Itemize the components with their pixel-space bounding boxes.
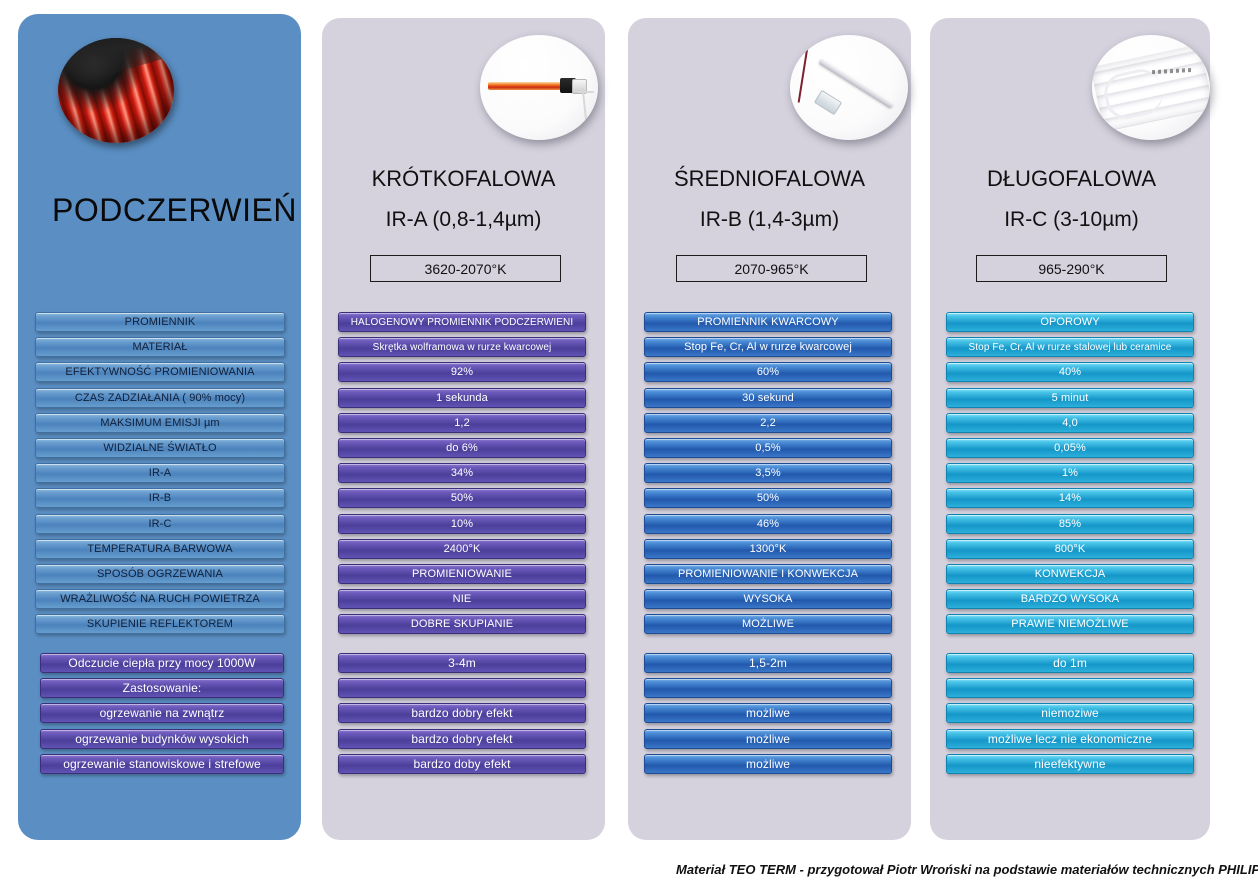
column-range: IR-A (0,8-1,4µm)	[322, 205, 605, 235]
data-cell: 0,05%	[946, 438, 1194, 458]
usage-label: ogrzewanie stanowiskowe i strefowe	[40, 754, 284, 774]
data-cell: PROMIENNIK KWARCOWY	[644, 312, 892, 332]
data-cell: 34%	[338, 463, 586, 483]
column-heading-ir-c: DŁUGOFALOWA IR-C (3-10µm)	[930, 165, 1213, 235]
summary-cell: bardzo doby efekt	[338, 754, 586, 774]
data-cell: DOBRE SKUPIANIE	[338, 614, 586, 634]
data-cell: 85%	[946, 514, 1194, 534]
row-label: IR-B	[35, 488, 285, 508]
summary-cell: nieefektywne	[946, 754, 1194, 774]
rod-tip	[814, 90, 842, 115]
page-title: PODCZERWIEŃ	[52, 192, 292, 229]
data-cell: HALOGENOWY PROMIENNIK PODCZERWIENI	[338, 312, 586, 332]
row-label: WIDZIALNE ŚWIATŁO	[35, 438, 285, 458]
row-label: SPOSÓB OGRZEWANIA	[35, 564, 285, 584]
summary-cell: możliwe	[644, 729, 892, 749]
row-label: PROMIENNIK	[35, 312, 285, 332]
summary-cell: możliwe lecz nie ekonomiczne	[946, 729, 1194, 749]
data-cell: 5 minut	[946, 388, 1194, 408]
row-label: MAKSIMUM EMISJI µm	[35, 413, 285, 433]
data-cell: 50%	[338, 488, 586, 508]
summary-cell: do 1m	[946, 653, 1194, 673]
summary-cell	[644, 678, 892, 698]
row-label: SKUPIENIE REFLEKTOREM	[35, 614, 285, 634]
tube-body	[488, 82, 562, 90]
data-cell: Stop Fe, Cr, Al w rurze stalowej lub cer…	[946, 337, 1194, 357]
data-cell: 40%	[946, 362, 1194, 382]
summary-cell: bardzo dobry efekt	[338, 729, 586, 749]
temperature-badge-ir-c: 965-290°K	[976, 255, 1167, 282]
data-cell: 92%	[338, 362, 586, 382]
summary-cell: bardzo dobry efekt	[338, 703, 586, 723]
data-cell: NIE	[338, 589, 586, 609]
data-cell: 10%	[338, 514, 586, 534]
halogen-tube-icon	[480, 35, 598, 140]
row-label: TEMPERATURA BARWOWA	[35, 539, 285, 559]
data-cell: 2400°K	[338, 539, 586, 559]
data-cell: PROMIENIOWANIE I KONWEKCJA	[644, 564, 892, 584]
footer-credit: Materiał TEO TERM - przygotował Piotr Wr…	[676, 862, 1246, 877]
ceramic-heater-icon	[1092, 35, 1210, 140]
ceramic-body	[1092, 44, 1210, 132]
column-range: IR-B (1,4-3µm)	[628, 205, 911, 235]
temperature-badge-ir-b: 2070-965°K	[676, 255, 867, 282]
row-label: MATERIAŁ	[35, 337, 285, 357]
summary-cell	[946, 678, 1194, 698]
usage-label: Zastosowanie:	[40, 678, 284, 698]
data-cell: 1,2	[338, 413, 586, 433]
column-heading-ir-a: KRÓTKOFALOWA IR-A (0,8-1,4µm)	[322, 165, 605, 235]
data-cell: do 6%	[338, 438, 586, 458]
data-cell: PRAWIE NIEMOŻLIWE	[946, 614, 1194, 634]
row-label: EFEKTYWNOŚĆ PROMIENIOWANIA	[35, 362, 285, 382]
data-cell: 4,0	[946, 413, 1194, 433]
column-name: DŁUGOFALOWA	[930, 165, 1213, 193]
row-label: WRAŻLIWOŚĆ NA RUCH POWIETRZA	[35, 589, 285, 609]
data-cell: 1300°K	[644, 539, 892, 559]
summary-cell: możliwe	[644, 703, 892, 723]
data-cell: BARDZO WYSOKA	[946, 589, 1194, 609]
usage-label: ogrzewanie na zwnątrz	[40, 703, 284, 723]
usage-label: ogrzewanie budynków wysokich	[40, 729, 284, 749]
tube-lead	[578, 91, 594, 93]
data-cell: Skrętka wolframowa w rurze kwarcowej	[338, 337, 586, 357]
infrared-heater-icon	[58, 38, 174, 143]
data-cell: 46%	[644, 514, 892, 534]
data-cell: PROMIENIOWANIE	[338, 564, 586, 584]
row-label: CZAS ZADZIAŁANIA ( 90% mocy)	[35, 388, 285, 408]
data-cell: 30 sekund	[644, 388, 892, 408]
row-label: IR-A	[35, 463, 285, 483]
summary-cell: 3-4m	[338, 653, 586, 673]
data-cell: 60%	[644, 362, 892, 382]
summary-cell: 1,5-2m	[644, 653, 892, 673]
data-cell: MOŻLIWE	[644, 614, 892, 634]
data-cell: 14%	[946, 488, 1194, 508]
data-cell: 0,5%	[644, 438, 892, 458]
data-cell: 1%	[946, 463, 1194, 483]
summary-cell	[338, 678, 586, 698]
row-label: IR-C	[35, 514, 285, 534]
usage-label: Odczucie ciepła przy mocy 1000W	[40, 653, 284, 673]
data-cell: WYSOKA	[644, 589, 892, 609]
column-range: IR-C (3-10µm)	[930, 205, 1213, 235]
data-cell: 2,2	[644, 413, 892, 433]
data-cell: Stop Fe, Cr, Al w rurze kwarcowej	[644, 337, 892, 357]
data-cell: 50%	[644, 488, 892, 508]
data-cell: 3,5%	[644, 463, 892, 483]
column-heading-ir-b: ŚREDNIOFALOWA IR-B (1,4-3µm)	[628, 165, 911, 235]
summary-cell: możliwe	[644, 754, 892, 774]
temperature-badge-ir-a: 3620-2070°K	[370, 255, 561, 282]
column-name: KRÓTKOFALOWA	[322, 165, 605, 193]
data-cell: KONWEKCJA	[946, 564, 1194, 584]
data-cell: 1 sekunda	[338, 388, 586, 408]
summary-cell: niemoziwe	[946, 703, 1194, 723]
column-name: ŚREDNIOFALOWA	[628, 165, 911, 193]
quartz-rod-icon	[790, 35, 908, 140]
data-cell: OPOROWY	[946, 312, 1194, 332]
data-cell: 800°K	[946, 539, 1194, 559]
